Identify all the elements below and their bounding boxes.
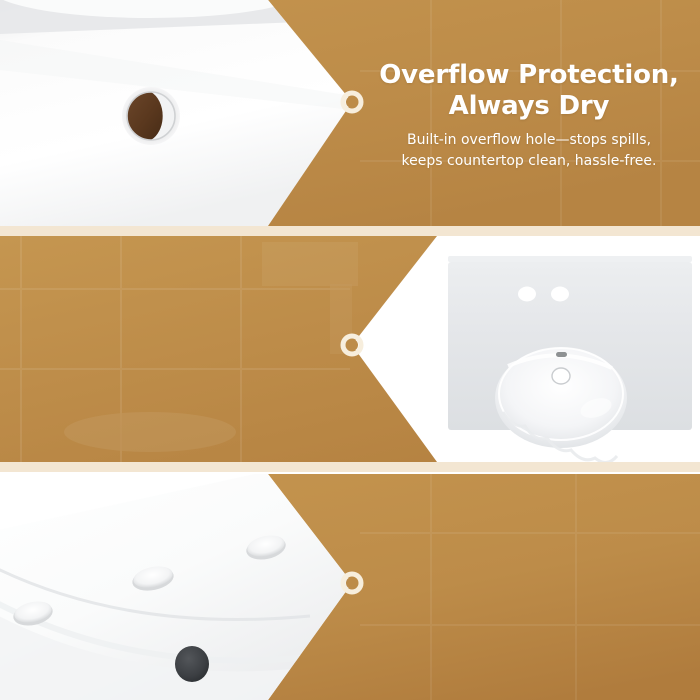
panel-1-text-block: Overflow Protection, Always Dry Built-in… — [366, 60, 692, 171]
feature-panel-resin-basin: Resin Basin: 100% Tough Shatter-resistan… — [0, 236, 700, 462]
basin-overflow-slot — [556, 352, 567, 357]
panel-1-headline-line-1: Overflow Protection, — [379, 60, 678, 90]
panel-1-subline: Built-in overflow hole—stops spills, kee… — [366, 130, 692, 171]
panel-1-subline-line-1: Built-in overflow hole—stops spills, — [407, 132, 651, 148]
panel-divider-2 — [0, 462, 700, 472]
product-feature-infographic: Overflow Protection, Always Dry Built-in… — [0, 0, 700, 700]
panel-1-headline: Overflow Protection, Always Dry — [366, 60, 692, 121]
panel-1-headline-line-2: Always Dry — [449, 91, 610, 121]
panel-3-graphic — [0, 474, 700, 700]
feature-panel-overflow-protection: Overflow Protection, Always Dry Built-in… — [0, 0, 700, 226]
basin-drain — [552, 368, 570, 384]
overflow-hole — [122, 87, 180, 145]
panel-2-graphic — [0, 236, 700, 462]
feature-panel-pre-drilled: Pre-Drilled for Hassle-Free Setup Three … — [0, 474, 700, 700]
sink-drain — [175, 646, 209, 682]
panel-1-subline-line-2: keeps countertop clean, hassle-free. — [402, 153, 657, 169]
panel-divider-1 — [0, 226, 700, 236]
